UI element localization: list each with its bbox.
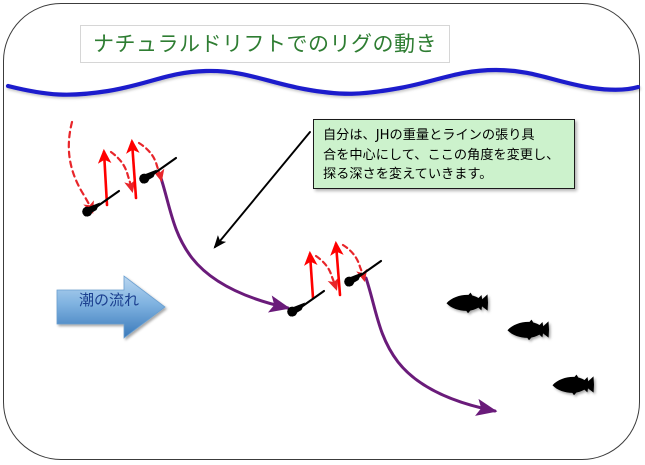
jig-head-4: [344, 261, 381, 287]
motion-arrows-group-1: [69, 122, 161, 211]
motion-arrows-group-2: [310, 244, 364, 298]
diagram-artwork: [0, 0, 645, 465]
current-flow-arrow: [57, 276, 165, 338]
callout-note-box: 自分は、JHの重量とラインの張り具 合を中心にして、ここの角度を変更し、 探る深…: [313, 119, 575, 189]
jig-head-3: [287, 291, 324, 317]
diagram-canvas: ナチュラルドリフトでのリグの動き 自分は、JHの重量とラインの張り具 合を中心に…: [0, 0, 645, 465]
fish-2: [508, 320, 550, 341]
fish-1: [447, 293, 489, 314]
page-title: ナチュラルドリフトでのリグの動き: [93, 34, 437, 55]
callout-note-text: 自分は、JHの重量とラインの張り具 合を中心にして、ここの角度を変更し、 探る深…: [323, 126, 566, 185]
diagram-title-box: ナチュラルドリフトでのリグの動き: [80, 25, 450, 63]
rig-drift-path-1: [160, 175, 288, 308]
jig-head-2: [139, 158, 176, 184]
callout-pointer-arrow: [215, 132, 310, 247]
fish-3: [553, 375, 595, 396]
water-surface-wave: [8, 70, 638, 95]
